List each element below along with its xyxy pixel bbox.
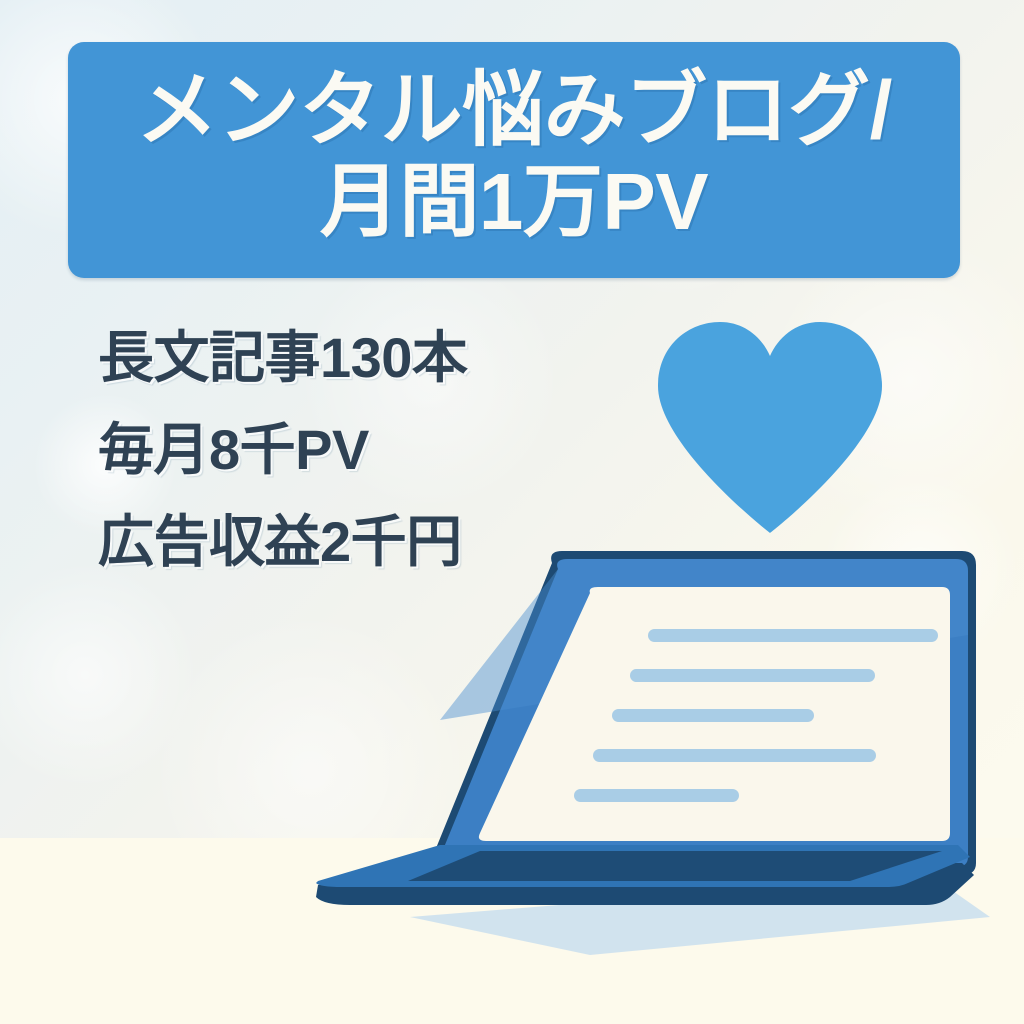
screen-text-line-2 (630, 669, 875, 682)
title-banner: メンタル悩みブログ/ 月間1万PV (68, 42, 960, 278)
screen-text-line-4 (593, 749, 876, 762)
screen-text-line-5 (574, 789, 739, 802)
heart-icon (650, 318, 890, 533)
promo-card: メンタル悩みブログ/ 月間1万PV 長文記事130本 毎月8千PV 広告収益2千… (0, 0, 1024, 1024)
screen-text-line-1 (648, 629, 938, 642)
banner-title-line-2: 月間1万PV (320, 161, 708, 243)
list-item: 毎月8千PV (98, 422, 568, 478)
list-item: 長文記事130本 (98, 330, 568, 386)
laptop-icon (290, 545, 990, 975)
banner-title-line-1: メンタル悩みブログ/ (136, 69, 892, 153)
laptop-keyboard (408, 851, 942, 881)
bokeh-circle (0, 560, 200, 790)
screen-text-line-3 (612, 709, 814, 722)
stats-list: 長文記事130本 毎月8千PV 広告収益2千円 (98, 330, 568, 570)
